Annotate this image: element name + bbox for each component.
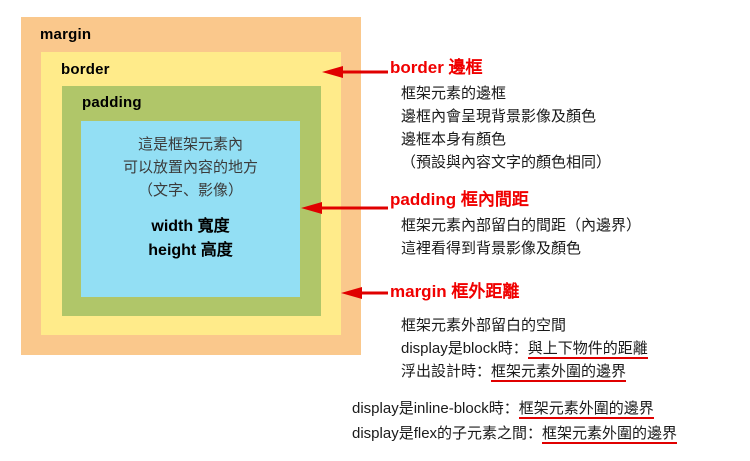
content-width-label: width 寬度: [151, 215, 229, 239]
callout-line-emphasis: 框架元素外圍的邊界: [542, 425, 677, 444]
callout-line: 框架元素內部留白的間距（內邊界）: [401, 214, 641, 237]
padding-box: padding 這是框架元素內 可以放置內容的地方 （文字、影像） width …: [62, 86, 321, 316]
margin-pointer-arrow: [341, 287, 388, 299]
callout-line-underlined: display是inline-block時：框架元素外圍的邊界: [352, 396, 677, 421]
callout-line-underlined: 浮出設計時：框架元素外圍的邊界: [401, 360, 648, 383]
callout-line-underlined: display是flex的子元素之間：框架元素外圍的邊界: [352, 421, 677, 446]
callout-line-prefix: display是flex的子元素之間：: [352, 425, 542, 442]
box-model-diagram: margin border padding 這是框架元素內 可以放置內容的地方 …: [21, 17, 361, 355]
callout-padding-body: 框架元素內部留白的間距（內邊界） 這裡看得到背景影像及顏色: [390, 210, 641, 260]
callout-line-underlined: display是block時：與上下物件的距離: [401, 337, 648, 360]
callout-line: 框架元素外部留白的空間: [401, 314, 648, 337]
margin-box: margin border padding 這是框架元素內 可以放置內容的地方 …: [21, 17, 361, 355]
callout-margin-body: 框架元素外部留白的空間 display是block時：與上下物件的距離 浮出設計…: [390, 302, 648, 383]
callout-line: 這裡看得到背景影像及顏色: [401, 237, 641, 260]
callout-margin-title: margin 框外距離: [390, 282, 648, 302]
content-box: 這是框架元素內 可以放置內容的地方 （文字、影像） width 寬度 heigh…: [81, 121, 300, 297]
callout-padding: padding 框內間距 框架元素內部留白的間距（內邊界） 這裡看得到背景影像及…: [390, 190, 641, 260]
callout-border-title: border 邊框: [390, 58, 611, 78]
content-text-line: （文字、影像）: [138, 179, 243, 202]
extra-notes: display是inline-block時：框架元素外圍的邊界 display是…: [352, 396, 677, 446]
callout-line-prefix: 浮出設計時：: [401, 363, 491, 380]
content-height-label: height 高度: [148, 239, 232, 263]
callout-margin: margin 框外距離 框架元素外部留白的空間 display是block時：與…: [390, 282, 648, 383]
callout-line-prefix: display是block時：: [401, 340, 528, 357]
callout-border-body: 框架元素的邊框 邊框內會呈現背景影像及顏色 邊框本身有顏色 （預設與內容文字的顏…: [390, 78, 611, 174]
callout-border: border 邊框 框架元素的邊框 邊框內會呈現背景影像及顏色 邊框本身有顏色 …: [390, 58, 611, 174]
callout-line: 邊框本身有顏色: [401, 128, 611, 151]
callout-line: （預設與內容文字的顏色相同）: [401, 151, 611, 174]
padding-box-label: padding: [82, 94, 142, 111]
margin-box-label: margin: [40, 26, 91, 43]
callout-line-emphasis: 與上下物件的距離: [528, 340, 648, 359]
content-text-line: 可以放置內容的地方: [123, 156, 258, 179]
callout-line: 框架元素的邊框: [401, 82, 611, 105]
callout-padding-title: padding 框內間距: [390, 190, 641, 210]
content-text-line: 這是框架元素內: [138, 133, 243, 156]
border-pointer-arrow: [322, 66, 388, 78]
padding-pointer-arrow: [301, 202, 388, 214]
callout-line-prefix: display是inline-block時：: [352, 400, 519, 417]
border-box: border padding 這是框架元素內 可以放置內容的地方 （文字、影像）…: [41, 52, 341, 335]
border-box-label: border: [61, 61, 110, 78]
callout-line: 邊框內會呈現背景影像及顏色: [401, 105, 611, 128]
callout-line-emphasis: 框架元素外圍的邊界: [519, 400, 654, 419]
callout-line-emphasis: 框架元素外圍的邊界: [491, 363, 626, 382]
